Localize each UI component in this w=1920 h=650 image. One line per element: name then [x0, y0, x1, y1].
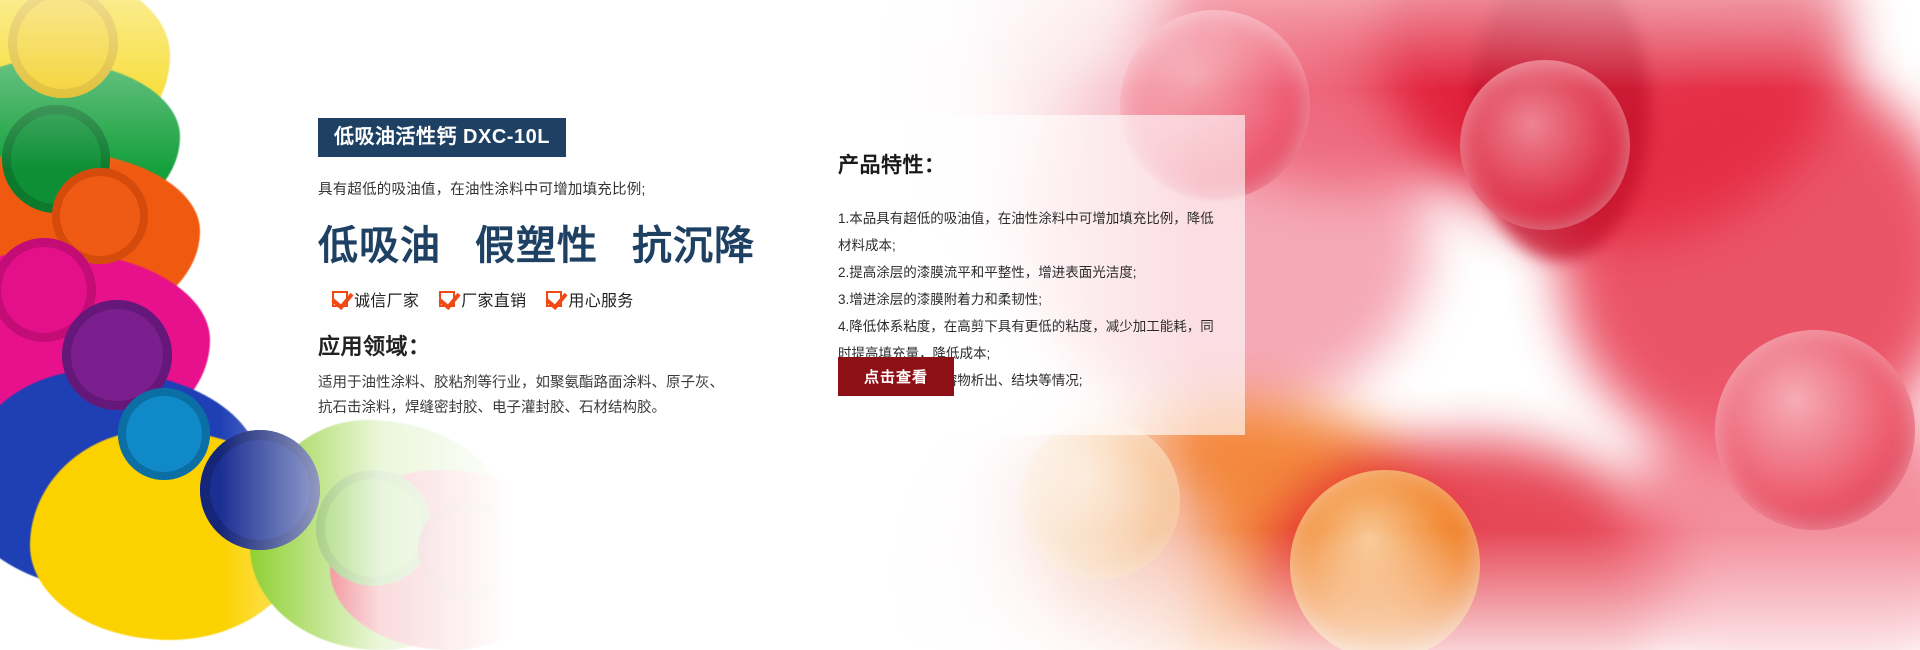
feature-item-3: 3.增进涂层的漆膜附着力和柔韧性; [838, 286, 1216, 313]
product-features-panel: 产品特性： 1.本品具有超低的吸油值，在油性涂料中可增加填充比例，降低材料成本;… [805, 115, 1245, 435]
product-banner: 低吸油活性钙 DXC-10L 具有超低的吸油值，在油性涂料中可增加填充比例; 低… [0, 0, 1920, 650]
headline-word-2: 假塑性 [475, 213, 598, 271]
features-panel-title: 产品特性： [838, 149, 1215, 179]
check-box-icon [439, 291, 455, 307]
feature-item-2: 2.提高涂层的漆膜流平和平整性，增进表面光洁度; [838, 259, 1216, 286]
application-field-title: 应用领域： [318, 329, 738, 361]
application-field-description: 适用于油性涂料、胶粘剂等行业，如聚氨酯路面涂料、原子灰、抗石击涂料，焊缝密封胶、… [318, 371, 728, 422]
headline-word-1: 低吸油 [318, 213, 441, 271]
panel-inner: 产品特性： 1.本品具有超低的吸油值，在油性涂料中可增加填充比例，降低材料成本;… [805, 115, 1245, 394]
check-box-icon [332, 291, 348, 307]
trust-badge-label-3: 用心服务 [568, 287, 633, 311]
trust-badge-label-2: 厂家直销 [461, 287, 526, 311]
trust-badge-2: 厂家直销 [439, 287, 526, 311]
trust-badge-3: 用心服务 [546, 287, 633, 311]
product-title-badge: 低吸油活性钙 DXC-10L [318, 118, 566, 157]
feature-item-1: 1.本品具有超低的吸油值，在油性涂料中可增加填充比例，降低材料成本; [838, 205, 1216, 259]
trust-badge-1: 诚信厂家 [332, 287, 419, 311]
view-details-button[interactable]: 点击查看 [838, 357, 954, 396]
headline-keywords: 低吸油 假塑性 抗沉降 [318, 213, 738, 271]
headline-word-3: 抗沉降 [632, 213, 755, 271]
banner-content: 低吸油活性钙 DXC-10L 具有超低的吸油值，在油性涂料中可增加填充比例; 低… [0, 0, 1920, 650]
left-text-column: 低吸油活性钙 DXC-10L 具有超低的吸油值，在油性涂料中可增加填充比例; 低… [318, 118, 738, 422]
trust-badges: 诚信厂家 厂家直销 用心服务 [332, 287, 738, 311]
product-subtitle: 具有超低的吸油值，在油性涂料中可增加填充比例; [318, 178, 738, 199]
check-box-icon [546, 291, 562, 307]
trust-badge-label-1: 诚信厂家 [354, 287, 419, 311]
